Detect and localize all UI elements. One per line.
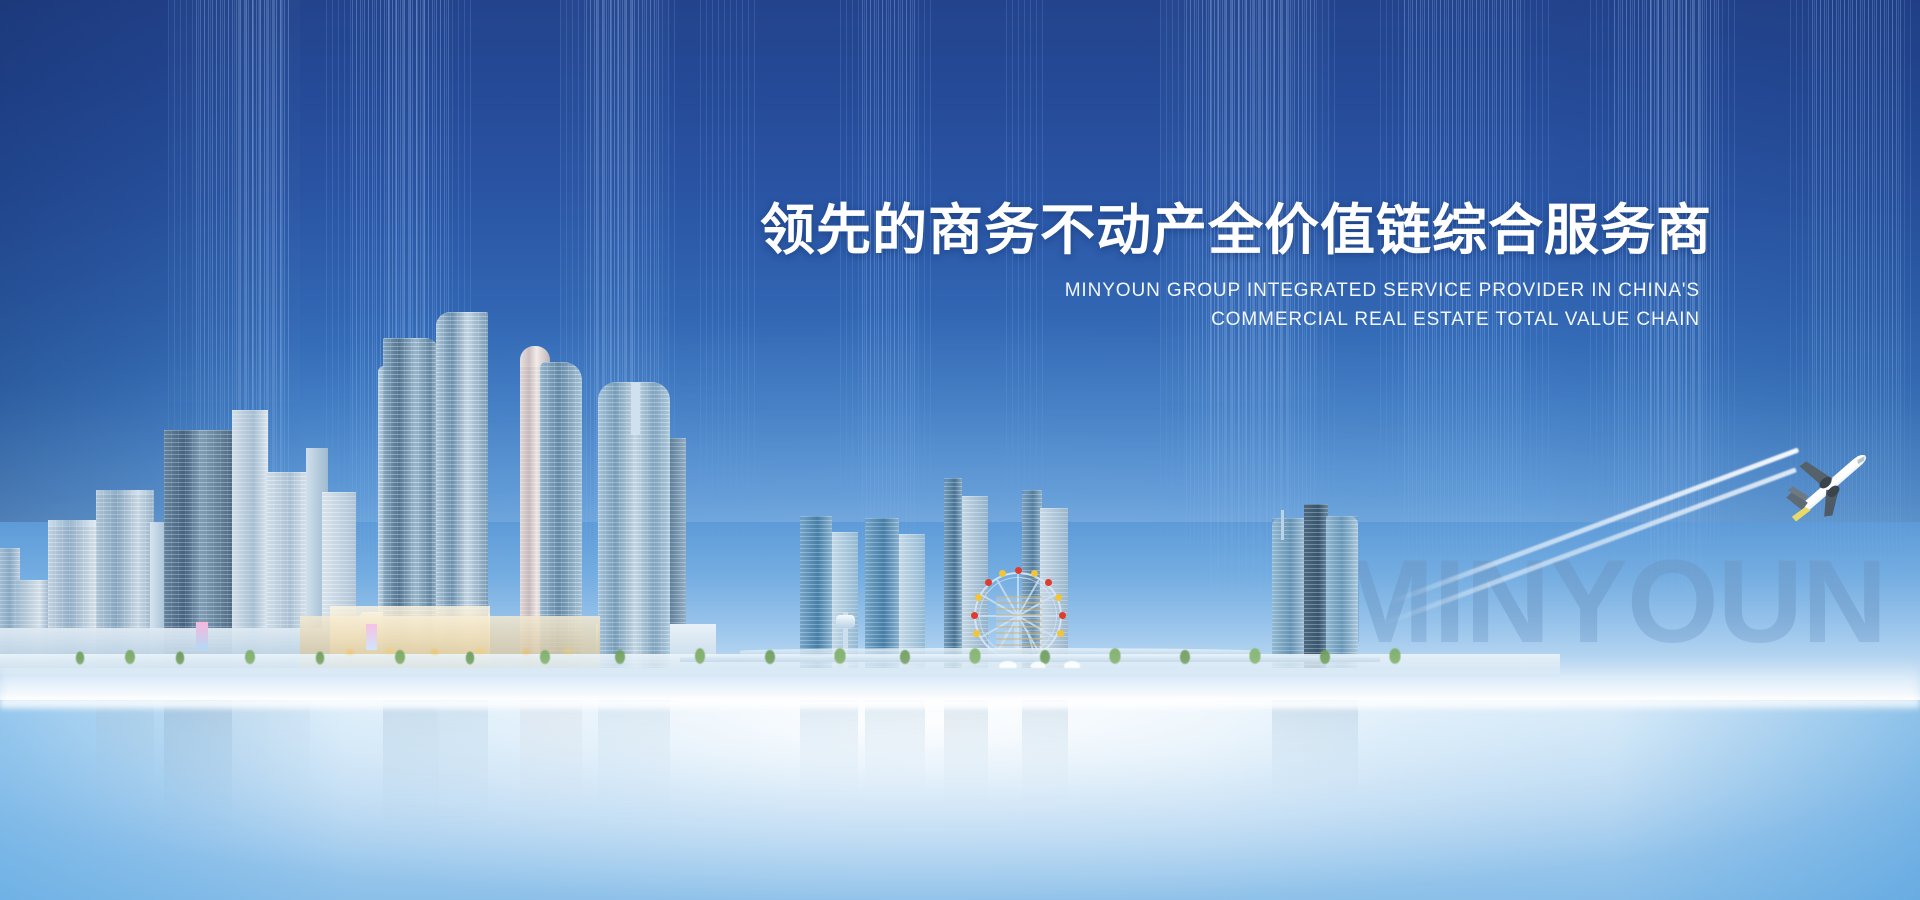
airplane-group [0,0,1920,900]
subtitle: MINYOUN GROUP INTEGRATED SERVICE PROVIDE… [760,276,1700,335]
page-title: 领先的商务不动产全价值链综合服务商 [760,200,1700,262]
contrail-lower [1381,467,1797,626]
headline-block: 领先的商务不动产全价值链综合服务商 MINYOUN GROUP INTEGRAT… [760,200,1700,334]
banner-hero: MINYOUN [0,0,1920,900]
subtitle-line-1: MINYOUN GROUP INTEGRATED SERVICE PROVIDE… [760,276,1700,305]
subtitle-line-2: COMMERCIAL REAL ESTATE TOTAL VALUE CHAIN [760,305,1700,334]
contrail-upper [1389,447,1799,604]
airplane-icon [1778,440,1882,526]
